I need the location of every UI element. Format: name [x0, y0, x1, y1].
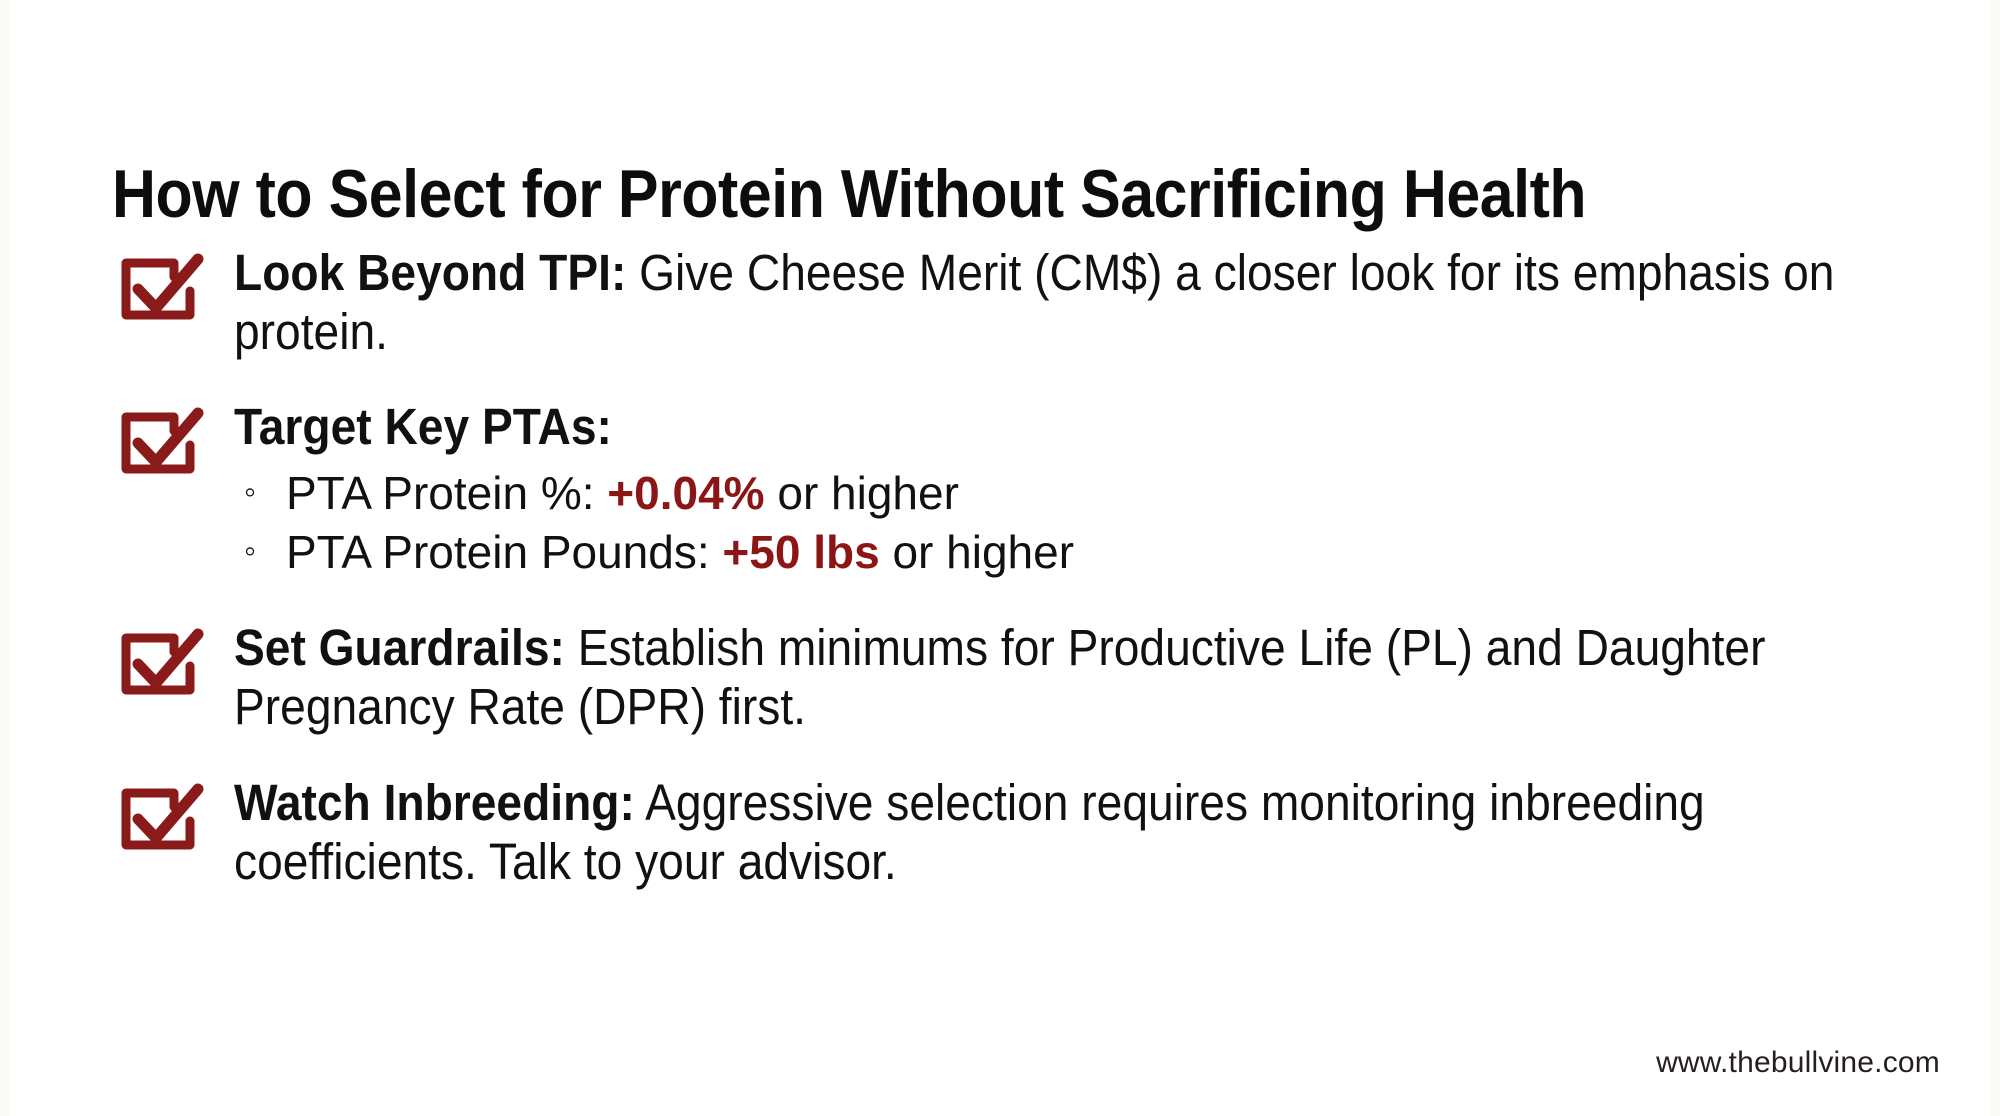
checked-checkbox-icon	[112, 403, 204, 483]
list-item-body: Set Guardrails: Establish minimums for P…	[234, 618, 1912, 736]
checked-checkbox-icon	[112, 779, 204, 859]
circle-bullet-icon: ◦	[244, 523, 256, 579]
list-item-text: Look Beyond TPI: Give Cheese Merit (CM$)…	[234, 243, 1912, 361]
list-item-lead: Watch Inbreeding:	[234, 774, 635, 831]
list-item-text: Target Key PTAs:	[234, 397, 1912, 456]
checked-checkbox-icon	[112, 249, 204, 329]
list-item-body: Watch Inbreeding: Aggressive selection r…	[234, 773, 1912, 891]
list-item: Look Beyond TPI: Give Cheese Merit (CM$)…	[112, 243, 1912, 361]
sub-list-item: ◦PTA Protein Pounds: +50 lbs or higher	[234, 523, 1912, 582]
page-title: How to Select for Protein Without Sacrif…	[112, 158, 1750, 230]
list-item-text: Watch Inbreeding: Aggressive selection r…	[234, 773, 1912, 891]
slide-canvas: How to Select for Protein Without Sacrif…	[0, 0, 2000, 1116]
footer-website-url: www.thebullvine.com	[1656, 1046, 1940, 1080]
sub-list: ◦PTA Protein %: +0.04% or higher ◦PTA Pr…	[234, 464, 1912, 582]
sub-item-highlight: +0.04%	[607, 467, 764, 519]
list-item: Set Guardrails: Establish minimums for P…	[112, 618, 1912, 736]
list-item-body: Look Beyond TPI: Give Cheese Merit (CM$)…	[234, 243, 1912, 361]
checklist: Look Beyond TPI: Give Cheese Merit (CM$)…	[112, 243, 1912, 891]
sub-item-highlight: +50 lbs	[722, 526, 879, 578]
sub-item-prefix: PTA Protein Pounds:	[286, 526, 722, 578]
list-item: Watch Inbreeding: Aggressive selection r…	[112, 773, 1912, 891]
checked-checkbox-icon	[112, 624, 204, 704]
list-item-text: Set Guardrails: Establish minimums for P…	[234, 618, 1912, 736]
sub-item-prefix: PTA Protein %:	[286, 467, 607, 519]
circle-bullet-icon: ◦	[244, 464, 256, 520]
sub-item-suffix: or higher	[880, 526, 1074, 578]
list-item-body: Target Key PTAs: ◦PTA Protein %: +0.04% …	[234, 397, 1912, 582]
sub-item-suffix: or higher	[765, 467, 959, 519]
right-edge-strip	[1990, 0, 2000, 1116]
list-item-lead: Target Key PTAs:	[234, 398, 612, 455]
list-item-lead: Set Guardrails:	[234, 619, 565, 676]
left-edge-strip	[0, 0, 10, 1116]
sub-list-item: ◦PTA Protein %: +0.04% or higher	[234, 464, 1912, 523]
list-item: Target Key PTAs: ◦PTA Protein %: +0.04% …	[112, 397, 1912, 582]
list-item-lead: Look Beyond TPI:	[234, 244, 626, 301]
